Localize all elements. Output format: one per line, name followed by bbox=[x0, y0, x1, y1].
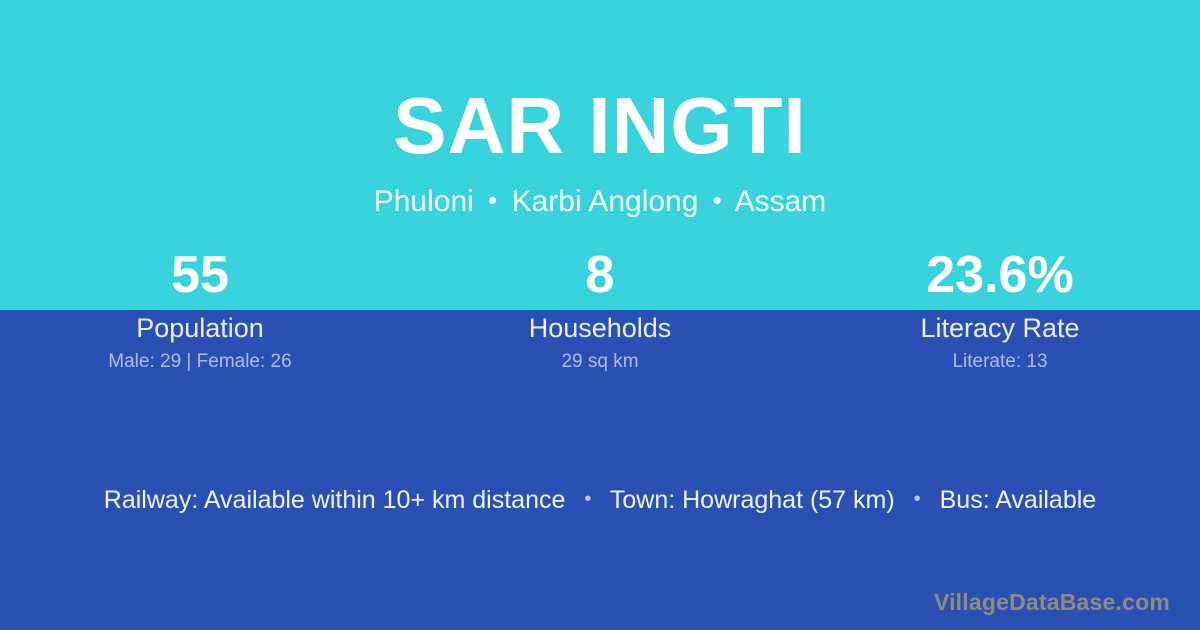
stat-subtext: 29 sq km bbox=[400, 350, 800, 374]
stat-households: 8 Households 29 sq km bbox=[400, 244, 800, 374]
amenity-railway: Railway: Available within 10+ km distanc… bbox=[104, 486, 566, 514]
site-watermark: VillageDataBase.com bbox=[934, 588, 1170, 616]
stats-row: 55 Population Male: 29 | Female: 26 8 Ho… bbox=[0, 244, 1200, 374]
amenity-town: Town: Howraghat (57 km) bbox=[610, 486, 895, 514]
stat-value: 23.6% bbox=[800, 244, 1200, 306]
stat-population: 55 Population Male: 29 | Female: 26 bbox=[0, 244, 400, 374]
stat-literacy-rate: 23.6% Literacy Rate Literate: 13 bbox=[800, 244, 1200, 374]
stat-subtext: Male: 29 | Female: 26 bbox=[0, 350, 400, 374]
card-header: SAR INGTI Phuloni • Karbi Anglong • Assa… bbox=[0, 0, 1200, 220]
stat-label: Households bbox=[400, 312, 800, 344]
amenity-separator-icon: • bbox=[572, 488, 603, 510]
stat-label: Literacy Rate bbox=[800, 312, 1200, 344]
stat-label: Population bbox=[0, 312, 400, 344]
amenities-line: Railway: Available within 10+ km distanc… bbox=[0, 482, 1200, 517]
stat-subtext: Literate: 13 bbox=[800, 350, 1200, 374]
amenity-separator-icon: • bbox=[902, 488, 933, 510]
stat-value: 8 bbox=[400, 244, 800, 306]
village-info-card: SAR INGTI Phuloni • Karbi Anglong • Assa… bbox=[0, 0, 1200, 630]
breadcrumb: Phuloni • Karbi Anglong • Assam bbox=[0, 170, 1200, 220]
breadcrumb-district: Karbi Anglong bbox=[512, 185, 699, 218]
breadcrumb-block: Phuloni bbox=[374, 185, 474, 218]
breadcrumb-state: Assam bbox=[735, 185, 827, 218]
stat-value: 55 bbox=[0, 244, 400, 306]
breadcrumb-separator-icon: • bbox=[482, 185, 503, 215]
page-title: SAR INGTI bbox=[0, 0, 1200, 170]
breadcrumb-separator-icon: • bbox=[707, 185, 728, 215]
amenity-bus: Bus: Available bbox=[940, 486, 1097, 514]
